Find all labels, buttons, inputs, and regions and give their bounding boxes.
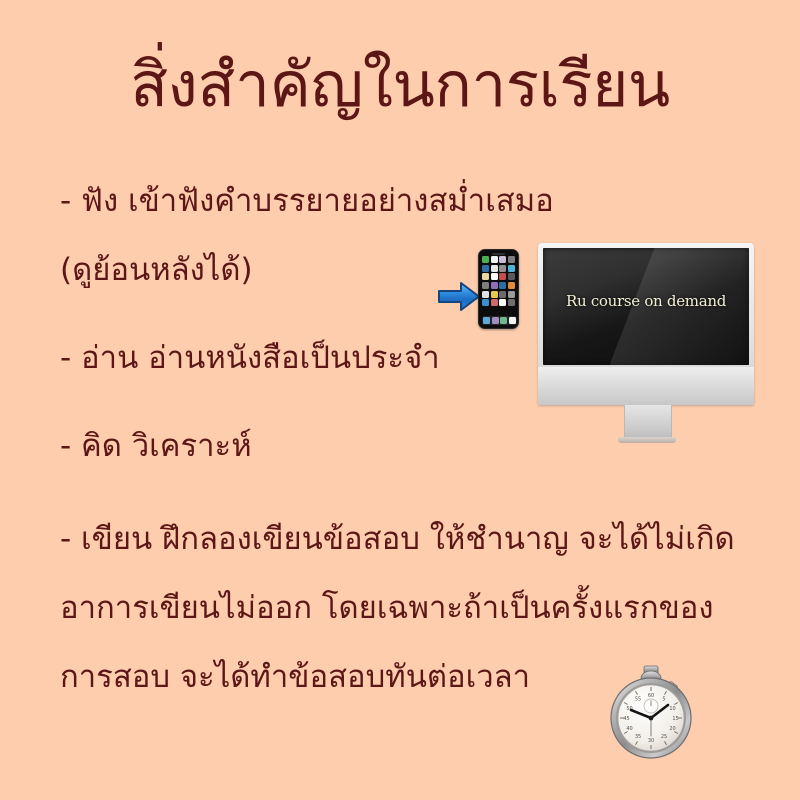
screen-text: Ru course on demand [543, 292, 749, 310]
bullet-line: อาการเขียนไม่ออก โดยเฉพาะถ้าเป็นครั้งแรก… [60, 593, 780, 624]
svg-text:30: 30 [648, 738, 654, 744]
monitor-stand-neck [624, 405, 672, 439]
phone-app-icon [508, 273, 515, 280]
phone-app-icon [482, 282, 489, 289]
phone-app-icon [508, 256, 515, 263]
phone-app-icon [499, 299, 506, 306]
phone-app-icon [491, 265, 498, 272]
poster-canvas: สิ่งสำคัญในการเรียน - ฟัง เข้าฟังคำบรรยา… [0, 0, 800, 800]
bullet-line: - ฟัง เข้าฟังคำบรรยายอย่างสม่ำเสมอ [60, 186, 780, 217]
phone-dock-icon [500, 317, 507, 324]
bullet-item-think: - คิด วิเคราะห์ [60, 431, 780, 462]
phone-dock-icon [492, 317, 499, 324]
svg-text:10: 10 [669, 706, 675, 712]
phone-app-icon [491, 291, 498, 298]
phone-app-icon [508, 299, 515, 306]
bullet-line: - เขียน ฝึกลองเขียนข้อสอบ ให้ชำนาญ จะได้… [60, 524, 780, 555]
svg-text:20: 20 [669, 726, 675, 732]
phone-notch [492, 253, 505, 255]
phone-app-icon [499, 256, 506, 263]
phone-dock [482, 316, 517, 325]
phone-app-icon [482, 265, 489, 272]
phone-app-icon [491, 256, 498, 263]
svg-text:55: 55 [635, 697, 641, 703]
phone-app-icon [499, 291, 506, 298]
phone-app-icon [499, 282, 506, 289]
svg-text:35: 35 [635, 734, 641, 740]
phone-app-icon [491, 273, 498, 280]
monitor-screen: Ru course on demand [543, 248, 749, 365]
phone-dock-icon [509, 317, 516, 324]
monitor-chin [538, 367, 754, 405]
phone-app-icon [508, 265, 515, 272]
phone-app-icon [508, 291, 515, 298]
phone-app-icon [508, 282, 515, 289]
phone-app-icon [482, 299, 489, 306]
phone-dock-icon [483, 317, 490, 324]
monitor-stand-foot [618, 437, 676, 443]
phone-app-icon [491, 299, 498, 306]
phone-app-icon [482, 273, 489, 280]
svg-text:40: 40 [626, 726, 632, 732]
phone-app-icon [499, 273, 506, 280]
phone-app-icon [499, 265, 506, 272]
arrow-right-icon [437, 280, 481, 313]
svg-text:60: 60 [648, 693, 654, 699]
svg-text:5: 5 [662, 697, 665, 703]
phone-app-icon [482, 256, 489, 263]
page-title: สิ่งสำคัญในการเรียน [0, 52, 800, 117]
smartphone-icon [478, 249, 519, 329]
desktop-monitor: Ru course on demand [538, 243, 754, 405]
monitor-body: Ru course on demand [538, 243, 754, 405]
bullet-line: - คิด วิเคราะห์ [60, 431, 780, 462]
svg-text:15: 15 [672, 716, 678, 722]
phone-app-grid [482, 256, 515, 306]
stopwatch-icon: 60 5 10 15 20 25 30 35 40 45 50 55 [604, 662, 700, 766]
phone-app-icon [482, 291, 489, 298]
svg-text:45: 45 [623, 716, 629, 722]
svg-text:25: 25 [661, 734, 667, 740]
phone-app-icon [491, 282, 498, 289]
